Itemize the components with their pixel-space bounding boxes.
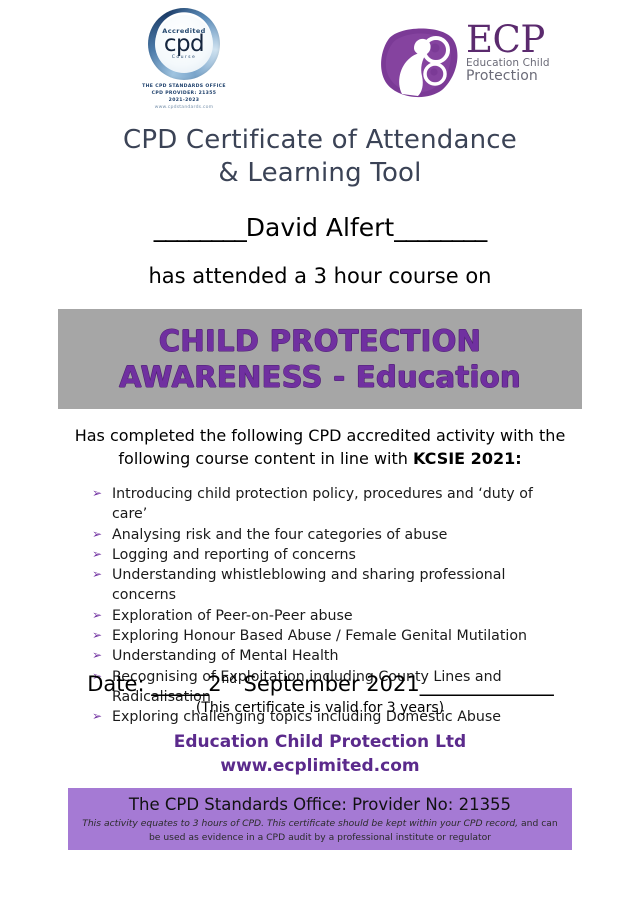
cpd-provider-line: CPD PROVIDER: 21355 xyxy=(138,91,230,98)
recipient-name-line: ________David Alfert________ xyxy=(0,213,640,242)
arrow-bullet-icon: ➢ xyxy=(92,484,112,503)
company-block: Education Child Protection Ltd www.ecpli… xyxy=(0,730,640,778)
course-title-line2: AWARENESS - Education xyxy=(119,359,521,395)
footer-disclaimer-line1: This activity equates to 3 hours of CPD.… xyxy=(82,818,518,829)
cpd-brand-text: cpd xyxy=(164,35,204,55)
recipient-name: David Alfert xyxy=(246,213,394,242)
issue-date-line: Date: ______2nd September 2021__________… xyxy=(0,672,640,696)
cpd-office-line: THE CPD STANDARDS OFFICE xyxy=(138,84,230,91)
arrow-bullet-icon: ➢ xyxy=(92,565,112,584)
arrow-bullet-icon: ➢ xyxy=(92,525,112,544)
company-website[interactable]: www.ecplimited.com xyxy=(0,754,640,778)
footer-provider-title: The CPD Standards Office: Provider No: 2… xyxy=(129,794,511,815)
footer-disclaimer-line2: used as evidence in a CPD audit by a pro… xyxy=(163,832,491,843)
list-item: ➢ Understanding of Mental Health xyxy=(92,646,572,666)
cpd-provider-footer: The CPD Standards Office: Provider No: 2… xyxy=(68,788,572,850)
arrow-bullet-icon: ➢ xyxy=(92,545,112,564)
attended-statement: has attended a 3 hour course on xyxy=(0,264,640,288)
footer-disclaimer: This activity equates to 3 hours of CPD.… xyxy=(76,817,564,844)
validity-note: (This certificate is valid for 3 years) xyxy=(0,700,640,716)
recipient-rule-left: ________ xyxy=(154,213,246,242)
date-rule-left: ______ xyxy=(151,672,208,696)
date-rest: September 2021 xyxy=(237,672,420,696)
cpd-years-line: 2021-2023 xyxy=(138,98,230,105)
list-item-label: Analysing risk and the four categories o… xyxy=(112,525,572,545)
date-label: Date: xyxy=(87,672,144,696)
list-item: ➢ Analysing risk and the four categories… xyxy=(92,525,572,545)
list-item: ➢ Introducing child protection policy, p… xyxy=(92,484,572,525)
certificate-title-line1: CPD Certificate of Attendance xyxy=(123,125,517,155)
recipient-rule-right: ________ xyxy=(394,213,486,242)
ecp-logo-text: ECP Education Child Protection xyxy=(466,22,558,85)
list-item-label: Exploration of Peer-on-Peer abuse xyxy=(112,606,572,626)
certificate-title-line2: & Learning Tool xyxy=(0,157,640,190)
completion-line1: Has completed the following CPD accredit… xyxy=(75,426,566,445)
list-item: ➢ Logging and reporting of concerns xyxy=(92,545,572,565)
certificate-title: CPD Certificate of Attendance & Learning… xyxy=(0,124,640,189)
ecp-logo: ECP Education Child Protection xyxy=(378,22,554,104)
ecp-tagline-line2: Protection xyxy=(466,69,558,84)
cpd-url-line: www.cpdstandards.com xyxy=(138,105,230,112)
company-name: Education Child Protection Ltd xyxy=(0,730,640,754)
cpd-seal-caption: THE CPD STANDARDS OFFICE CPD PROVIDER: 2… xyxy=(138,84,230,112)
list-item: ➢ Exploring Honour Based Abuse / Female … xyxy=(92,626,572,646)
certificate-page: Accredited cpd Course THE CPD STANDARDS … xyxy=(0,0,640,905)
date-day: 2 xyxy=(208,672,221,696)
list-item-label: Understanding whistleblowing and sharing… xyxy=(112,565,572,606)
list-item-label: Understanding of Mental Health xyxy=(112,646,572,666)
ecp-mother-and-child-icon xyxy=(378,24,460,100)
cpd-seal-ring-icon: Accredited cpd Course xyxy=(148,8,220,80)
completion-standard-ref: KCSIE 2021: xyxy=(413,449,522,468)
arrow-bullet-icon: ➢ xyxy=(92,606,112,625)
list-item-label: Exploring Honour Based Abuse / Female Ge… xyxy=(112,626,572,646)
list-item-label: Introducing child protection policy, pro… xyxy=(112,484,572,525)
cpd-course-label: Course xyxy=(172,56,196,61)
date-ordinal-suffix: nd xyxy=(222,672,237,686)
logo-row: Accredited cpd Course THE CPD STANDARDS … xyxy=(0,0,640,118)
course-title-banner: CHILD PROTECTION AWARENESS - Education xyxy=(58,309,582,409)
cpd-seal-inner: Accredited cpd Course xyxy=(155,15,213,73)
arrow-bullet-icon: ➢ xyxy=(92,626,112,645)
course-title-line1: CHILD PROTECTION xyxy=(159,323,481,359)
ecp-initials: ECP xyxy=(466,22,558,57)
arrow-bullet-icon: ➢ xyxy=(92,646,112,665)
cpd-accreditation-seal: Accredited cpd Course THE CPD STANDARDS … xyxy=(138,8,230,112)
completion-statement: Has completed the following CPD accredit… xyxy=(60,424,580,470)
list-item: ➢ Exploration of Peer-on-Peer abuse xyxy=(92,606,572,626)
date-rule-right: ______________ xyxy=(420,672,553,696)
list-item-label: Logging and reporting of concerns xyxy=(112,545,572,565)
list-item: ➢ Understanding whistleblowing and shari… xyxy=(92,565,572,606)
completion-line2-prefix: following course content in line with xyxy=(118,449,413,468)
